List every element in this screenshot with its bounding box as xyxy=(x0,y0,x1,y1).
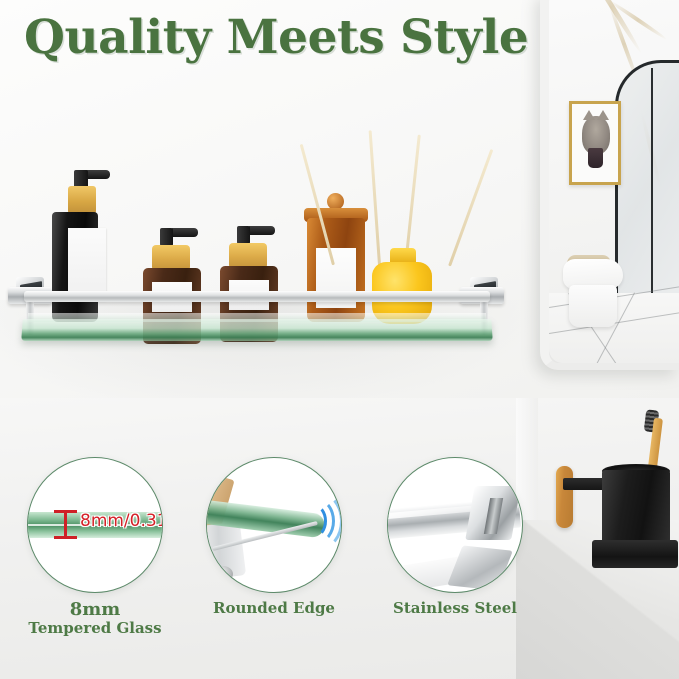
glass-shelf xyxy=(21,319,493,341)
motion-arc-icon xyxy=(301,504,327,538)
amber-pump-bottle-2-pump xyxy=(237,226,250,244)
glass-thickness-closeup: 8mm/0.31” xyxy=(27,457,163,593)
feature-caption: Stainless Steel xyxy=(380,600,530,617)
feature-caption: Rounded Edge xyxy=(199,600,349,617)
screw-head-icon xyxy=(213,566,233,582)
dimension-cap-bottom xyxy=(54,536,77,539)
glass-shelf-assembly xyxy=(8,255,513,365)
feature-caption: 8mm Tempered Glass xyxy=(20,600,170,637)
amber-pump-bottle-1-nozzle xyxy=(172,228,198,237)
feature-rounded-edge: Rounded Edge xyxy=(199,457,349,617)
feature-tempered-glass: 8mm/0.31” 8mm Tempered Glass xyxy=(20,457,170,637)
mug-handle-bar xyxy=(563,478,605,490)
stainless-bracket-closeup xyxy=(387,457,523,593)
product-feature-graphic: Quality Meets Style xyxy=(0,0,679,679)
feature-stainless-steel: Stainless Steel xyxy=(380,457,530,617)
mirror-frame xyxy=(540,0,679,370)
dimension-line xyxy=(64,512,67,538)
amber-pump-bottle-2-nozzle xyxy=(249,226,275,235)
page-title: Quality Meets Style xyxy=(24,9,536,67)
thickness-annotation: 8mm/0.31” xyxy=(80,511,163,531)
feature-caption-line2: Tempered Glass xyxy=(20,620,170,637)
feature-caption-line1: 8mm xyxy=(20,600,170,620)
black-pump-bottle-collar xyxy=(68,186,96,214)
wall-mirror xyxy=(540,0,679,370)
black-tray xyxy=(592,540,678,568)
chrome-guard-rail xyxy=(24,291,490,302)
rounded-edge-closeup xyxy=(206,457,342,593)
feature-caption-line1: Stainless Steel xyxy=(380,600,530,617)
bracket-lower-wing xyxy=(447,545,513,590)
mug-wooden-handle xyxy=(556,466,573,528)
black-pump-bottle-nozzle xyxy=(86,170,110,179)
feature-caption-line1: Rounded Edge xyxy=(199,600,349,617)
amber-pump-bottle-1-pump xyxy=(160,228,173,246)
